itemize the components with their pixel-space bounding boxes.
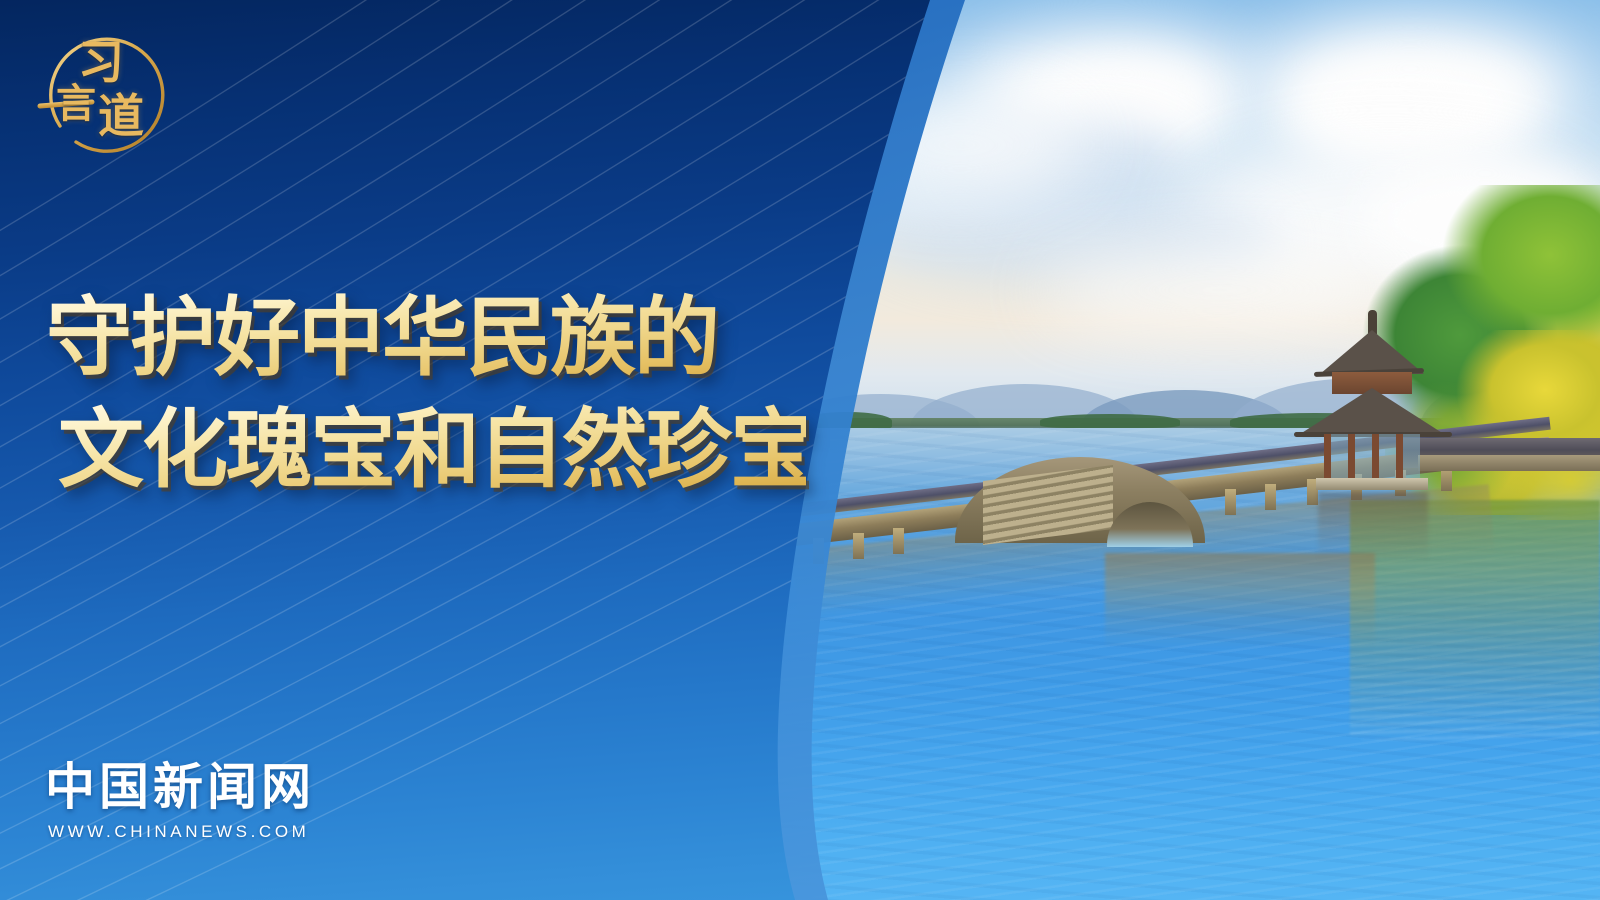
chinese-pavilion bbox=[1298, 310, 1448, 485]
publisher-url: WWW.CHINANEWS.COM bbox=[48, 822, 315, 842]
pavilion-lower-roof bbox=[1297, 388, 1447, 436]
bridge-reflection bbox=[1105, 553, 1375, 648]
pavilion-upper-roof bbox=[1320, 330, 1424, 374]
railing-post bbox=[853, 533, 864, 559]
poster-canvas: 习 言 道 守护好中华民族的 文化瑰宝和自然珍宝 中国新闻网 WWW.CHINA… bbox=[0, 0, 1600, 900]
railing-post bbox=[1265, 484, 1276, 510]
pavilion-platform bbox=[1316, 478, 1428, 490]
shore-trees bbox=[1040, 414, 1180, 428]
xi-yan-dao-seal-logo: 习 言 道 bbox=[32, 22, 177, 167]
headline-title: 守护好中华民族的 文化瑰宝和自然珍宝 bbox=[46, 282, 806, 506]
seal-char-yan: 言 bbox=[56, 84, 96, 124]
seal-characters: 习 言 道 bbox=[32, 22, 177, 167]
pavilion-columns bbox=[1324, 434, 1420, 482]
stone-arch-bridge bbox=[955, 457, 1205, 537]
railing-post bbox=[813, 538, 824, 564]
headline-line-2: 文化瑰宝和自然珍宝 bbox=[58, 394, 806, 506]
railing-post bbox=[893, 528, 904, 554]
headline-line-1: 守护好中华民族的 bbox=[46, 282, 806, 394]
seal-char-dao: 道 bbox=[98, 94, 144, 140]
cloud-icon bbox=[830, 90, 1090, 200]
seal-char-xi: 习 bbox=[78, 40, 124, 86]
chinanews-logo: 中国新闻网 WWW.CHINANEWS.COM bbox=[45, 758, 315, 842]
pavilion-reflection bbox=[1318, 492, 1428, 562]
railing-post bbox=[1225, 489, 1236, 515]
publisher-name: 中国新闻网 bbox=[45, 758, 315, 816]
